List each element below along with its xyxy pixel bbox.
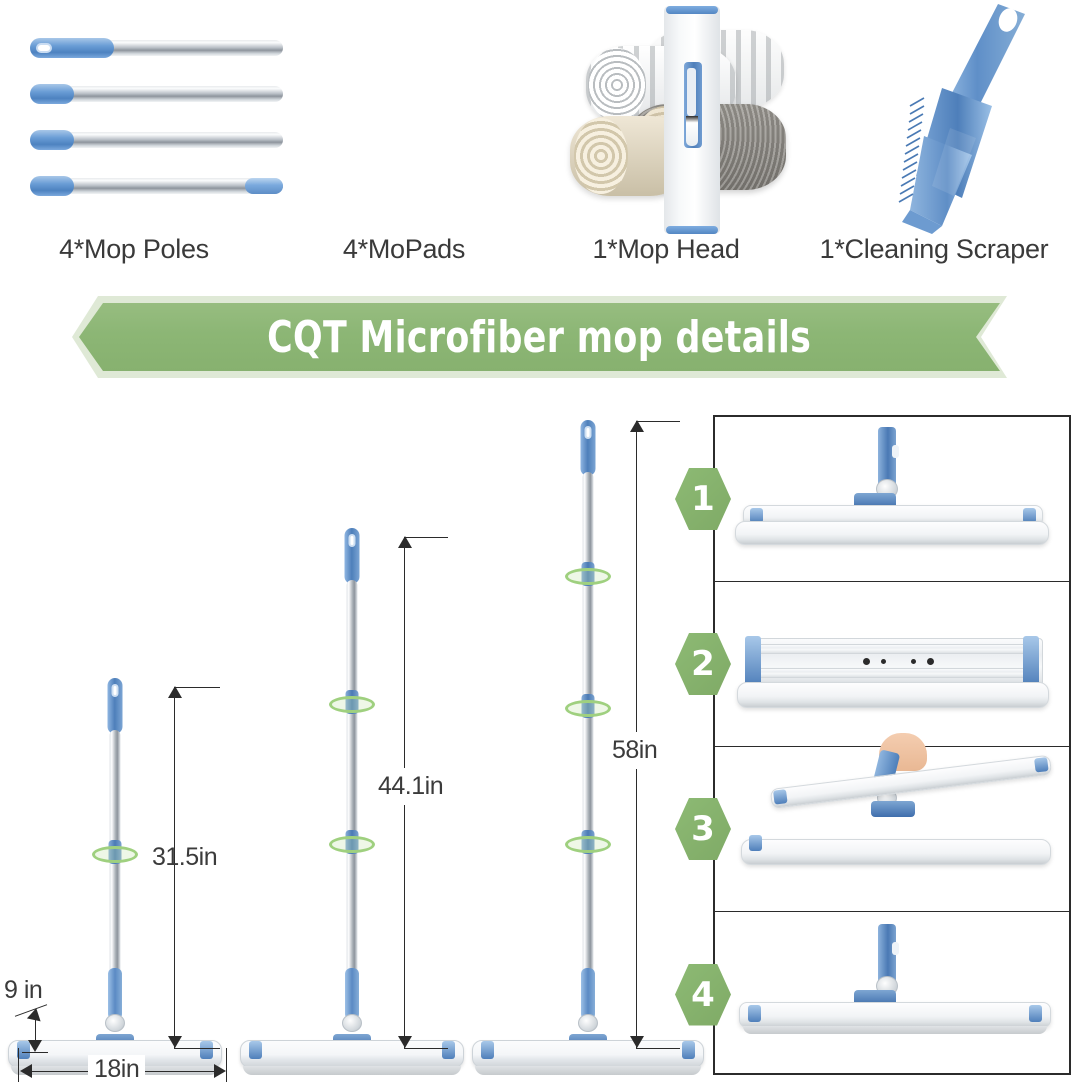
mop-pole-2 [30,84,283,104]
mop3-head-fringe [475,1066,701,1075]
step-4-illustration [715,912,1069,1077]
mop-pole-3 [30,130,283,150]
assembly-step-2: 2 [715,582,1069,747]
mop3-hang-hole [585,426,592,439]
assembly-steps-panel: 1 2 [713,415,1071,1075]
assembly-step-1: 1 [715,417,1069,582]
mop3-dim-arrow-bottom [630,1036,644,1048]
mop-pole-1 [30,38,283,58]
step-2-illustration [715,582,1069,746]
mop1-dim-arrow-bottom [168,1036,182,1048]
head-depth-tick-bottom [22,1052,48,1053]
mop3-ring-1 [565,568,611,585]
mop2-swivel [342,1014,362,1032]
mop-figure-3: 58in [466,400,710,1082]
product-cell-mop-head: 1*Mop Head [540,0,792,285]
mop2-height-label: 44.1in [378,768,443,805]
head-depth-arrow-bottom [28,1040,42,1052]
head-width-arrow-right [214,1064,226,1078]
mop2-lower-grip [345,968,359,1020]
product-cell-mop-pads: 4*MoPads [268,0,540,285]
step-3-illustration [715,747,1069,911]
mop-head-icon [664,6,720,234]
product-contents-row: 4*Mop Poles [0,0,1076,285]
mop2-ring-2 [329,836,375,853]
mop-poles-icon [18,38,283,203]
head-width-ext-right [226,1048,227,1082]
mop2-dim-tick-top [404,537,448,538]
mop3-lower-grip [581,968,595,1020]
mop3-shaft [583,472,594,980]
product-cell-cleaning-scraper: 1*Cleaning Scraper [792,0,1076,285]
banner-title: CQT Microfiber mop details [267,312,811,363]
mop2-shaft [347,580,358,980]
mop2-hang-hole [349,534,356,547]
mop1-dim-line [174,696,175,1048]
mop-pole-4 [30,176,283,196]
assembly-step-3: 3 [715,747,1069,912]
mop1-hang-hole [112,684,119,697]
mop1-ring-1 [92,846,138,863]
mop1-dim-tick-bottom [174,1048,220,1049]
mop3-head-plate [472,1040,704,1068]
mop3-swivel [578,1014,598,1032]
mop2-dim-arrow-bottom [398,1036,412,1048]
mop2-head-plate [240,1040,464,1068]
cleaning-scraper-icon [880,0,1040,234]
mop3-dim-tick-bottom [636,1048,680,1049]
mop3-ring-2 [565,700,611,717]
scraper-shape [880,0,1040,234]
head-width-label: 18in [88,1055,145,1084]
assembly-step-4: 4 [715,912,1069,1077]
head-depth-label: 9 in [4,976,42,1005]
mop-size-diagrams: 31.5in 9 in 18in [0,400,710,1082]
mop1-lower-grip [108,968,122,1020]
product-label-mop-head: 1*Mop Head [540,234,792,265]
mop2-ring-1 [329,696,375,713]
mop1-height-label: 31.5in [152,843,217,872]
section-banner: CQT Microfiber mop details [72,296,1007,378]
product-label-cleaning-scraper: 1*Cleaning Scraper [792,234,1076,265]
product-label-mop-pads: 4*MoPads [268,234,540,265]
mop2-head-fringe [243,1066,461,1075]
mop2-dim-tick-bottom [404,1048,448,1049]
infographic-page: 4*Mop Poles [0,0,1076,1082]
mop-figure-2: 44.1in [232,400,472,1082]
mop3-height-label: 58in [612,732,657,769]
product-cell-mop-poles: 4*Mop Poles [0,0,268,285]
banner-fill: CQT Microfiber mop details [79,303,1000,371]
mop3-ring-3 [565,836,611,853]
product-label-mop-poles: 4*Mop Poles [0,234,268,265]
mop3-dim-tick-top [636,421,680,422]
step-1-illustration [715,417,1069,581]
mop1-swivel [105,1014,125,1032]
head-width-ext-left [18,1048,19,1082]
mop1-dim-tick-top [174,687,220,688]
